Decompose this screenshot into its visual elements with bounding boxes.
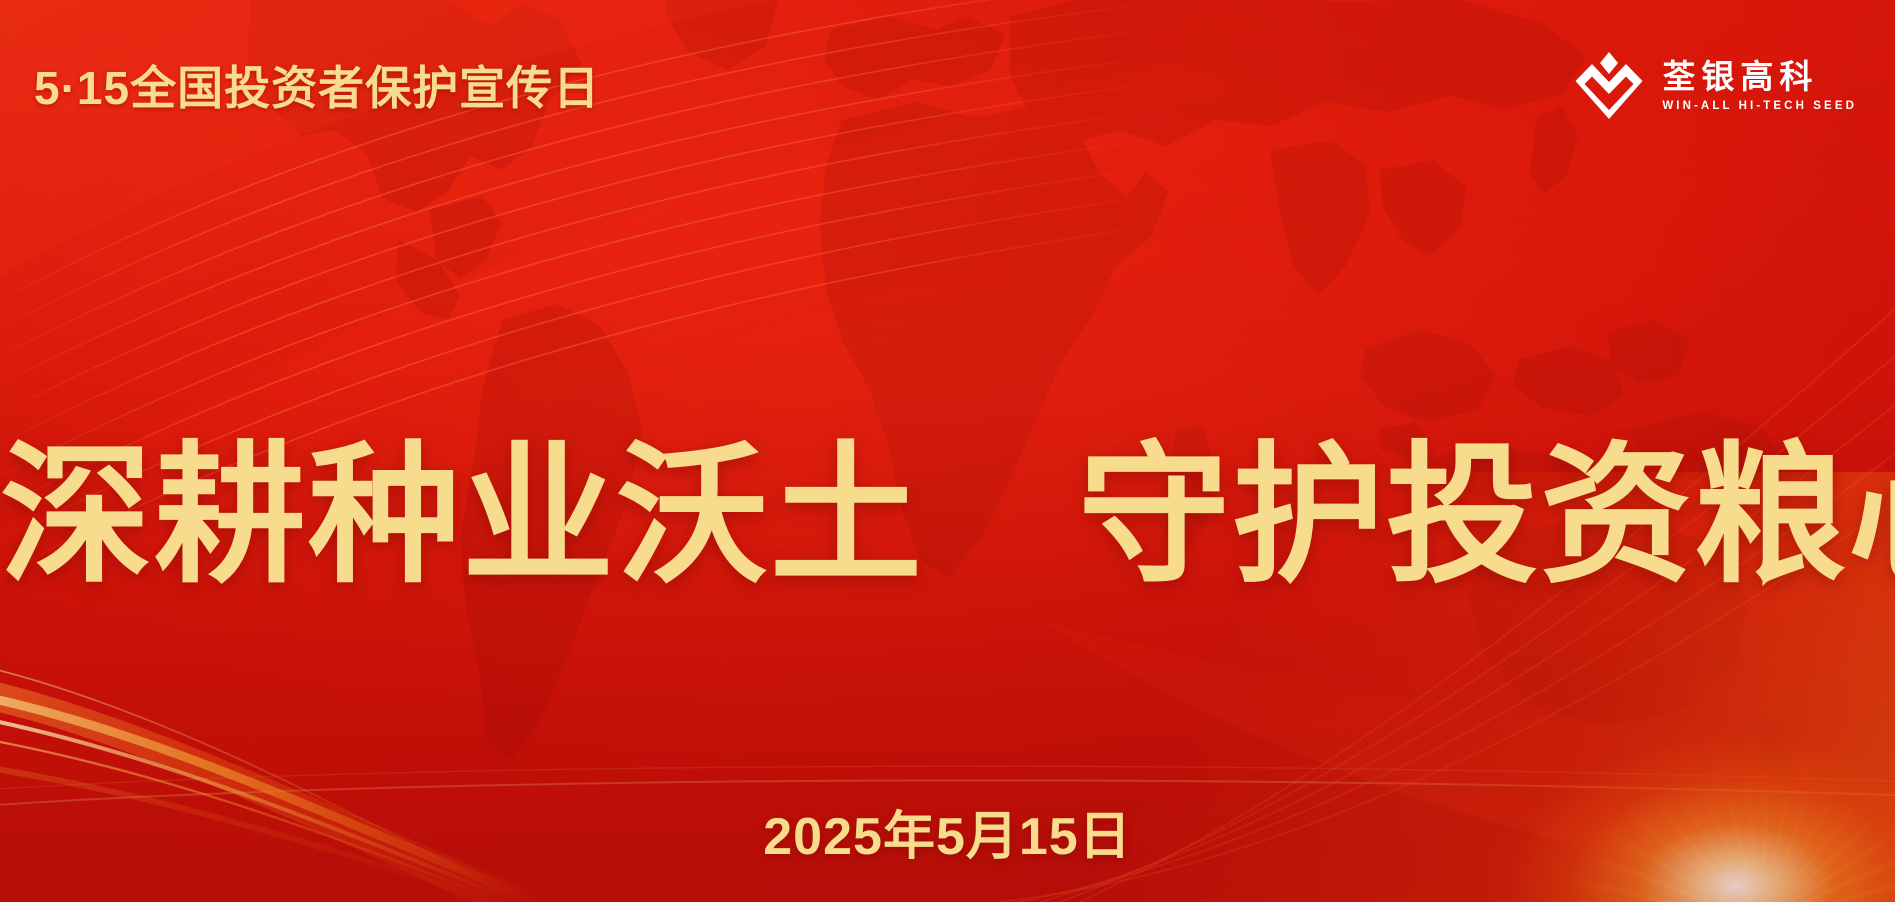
chevron-diamond-logo-icon [1572, 50, 1646, 122]
investor-protection-day-banner: 5·15全国投资者保护宣传日 荃银高科 WIN-ALL HI-TECH SEED… [0, 0, 1895, 902]
logo-wordmark: 荃银高科 WIN-ALL HI-TECH SEED [1662, 59, 1857, 112]
company-logo: 荃银高科 WIN-ALL HI-TECH SEED [1572, 50, 1857, 122]
logo-name-cn: 荃银高科 [1662, 59, 1857, 95]
event-date: 2025年5月15日 [0, 794, 1895, 869]
campaign-header-tagline: 5·15全国投资者保护宣传日 [34, 52, 600, 118]
logo-name-en: WIN-ALL HI-TECH SEED [1662, 100, 1857, 113]
page-title: 深耕种业沃土 守护投资粮心 [0, 392, 1895, 612]
